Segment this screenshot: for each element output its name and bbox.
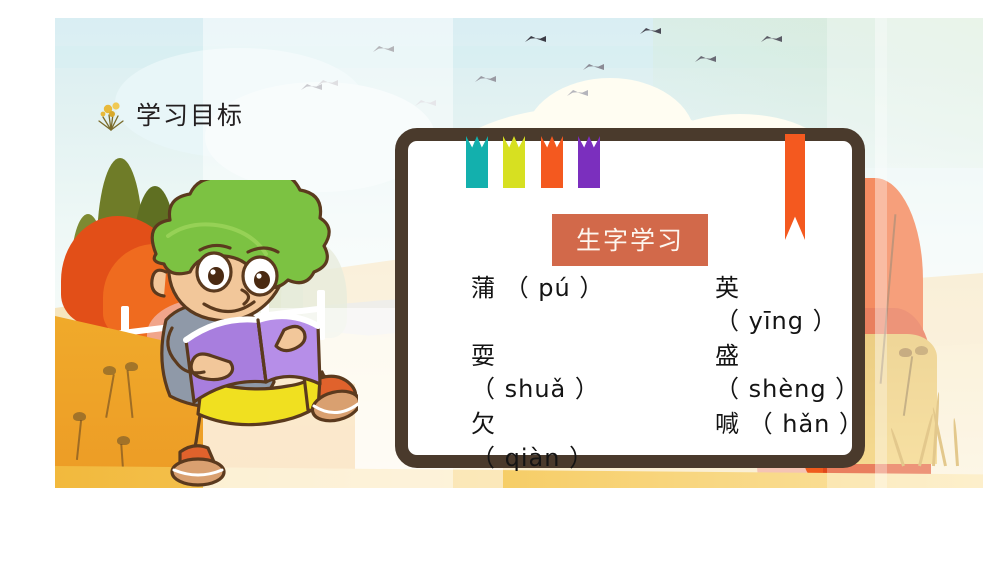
card-inner: 生字学习 蒲 （ pú ） 英 （ yīng ） 耍 （ shuǎ ） — [421, 154, 839, 442]
section-banner-text: 生字学习 — [576, 226, 684, 255]
vocabulary-cell: 耍 （ shuǎ ） — [471, 340, 681, 406]
vocabulary-grid: 蒲 （ pú ） 英 （ yīng ） 耍 （ shuǎ ） 盛 （ shèng… — [471, 272, 891, 475]
word-sheng-pinyin: （ shèng ） — [681, 373, 891, 406]
vocabulary-cell: 喊 （ hǎn ） — [681, 408, 891, 474]
word-ying-char: 英 — [681, 272, 891, 305]
word-pu: 蒲 （ pú ） — [471, 272, 681, 305]
vocabulary-row: 欠 （ qiàn ） 喊 （ hǎn ） — [471, 408, 891, 474]
white-overlay-right — [875, 18, 983, 488]
boy-reading-illustration — [108, 180, 358, 490]
word-qian-char: 欠 — [471, 408, 681, 441]
bookmark-yellow[interactable] — [503, 136, 525, 188]
page-title: 学习目标 — [96, 96, 244, 132]
page-title-text: 学习目标 — [136, 96, 244, 132]
bookmark-purple[interactable] — [578, 136, 600, 188]
vocabulary-cell: 盛 （ shèng ） — [681, 340, 891, 406]
word-shua-pinyin: （ shuǎ ） — [471, 373, 681, 406]
bookmark-teal[interactable] — [466, 136, 488, 188]
word-qian-pinyin: （ qiàn ） — [471, 442, 681, 475]
ribbon-orange[interactable] — [785, 134, 805, 240]
word-ying-pinyin: （ yīng ） — [681, 305, 891, 338]
vocabulary-cell: 英 （ yīng ） — [681, 272, 891, 338]
vocabulary-cell: 蒲 （ pú ） — [471, 272, 681, 338]
dandelion-icon — [96, 97, 126, 131]
section-banner: 生字学习 — [552, 214, 708, 266]
vocabulary-row: 蒲 （ pú ） 英 （ yīng ） — [471, 272, 891, 338]
word-han: 喊 （ hǎn ） — [681, 408, 891, 441]
word-sheng-char: 盛 — [681, 340, 891, 373]
slide-canvas: 学习目标 生字学习 蒲 （ pú ） 英 （ yīng ） — [0, 0, 1000, 563]
bookmark-orange[interactable] — [541, 136, 563, 188]
lesson-card: 生字学习 蒲 （ pú ） 英 （ yīng ） 耍 （ shuǎ ） — [395, 128, 865, 468]
vocabulary-cell: 欠 （ qiàn ） — [471, 408, 681, 474]
word-shua-char: 耍 — [471, 340, 681, 373]
vocabulary-row: 耍 （ shuǎ ） 盛 （ shèng ） — [471, 340, 891, 406]
